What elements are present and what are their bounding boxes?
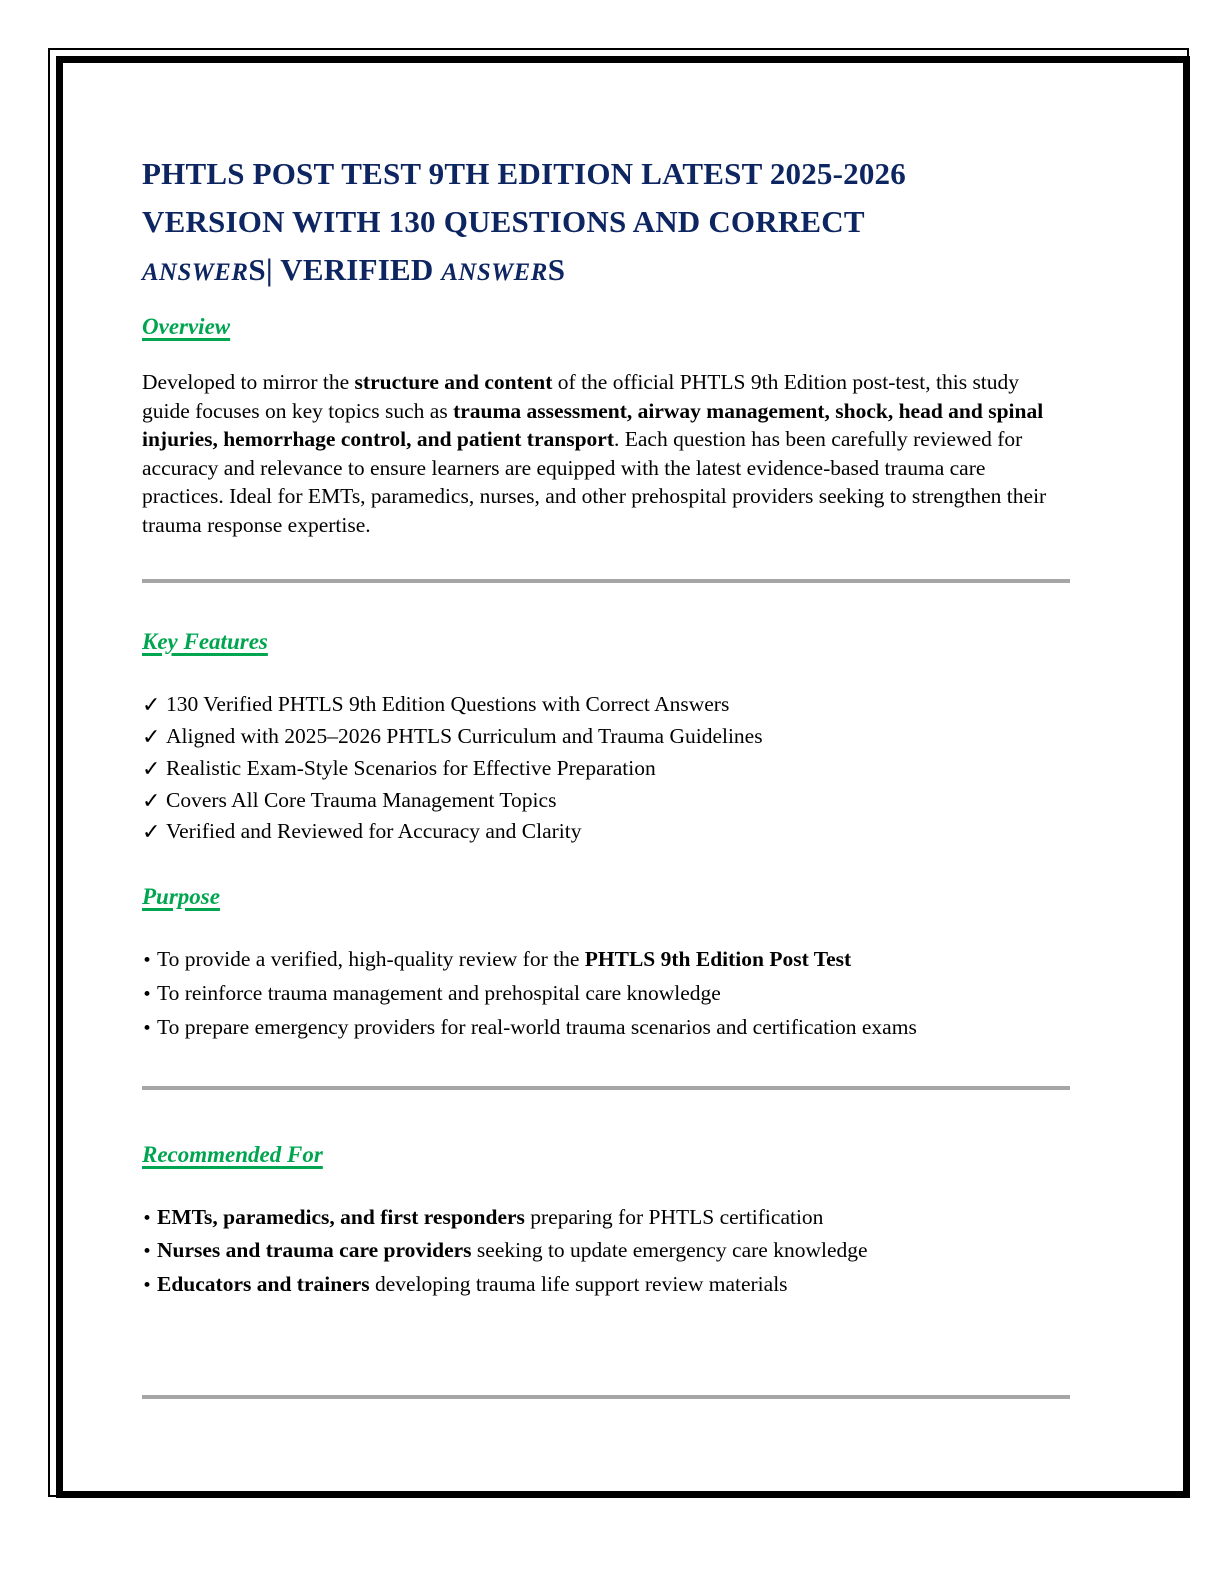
- list-item: ✓130 Verified PHTLS 9th Edition Question…: [142, 689, 1070, 721]
- section-divider-2: [142, 1086, 1070, 1090]
- section-divider-3: [142, 1395, 1070, 1399]
- title-line-3: ANSWERS| VERIFIED ANSWERS: [142, 246, 1070, 294]
- recommended-rest: preparing for PHTLS certification: [525, 1205, 824, 1229]
- recommended-bold-lead: EMTs, paramedics, and first responders: [157, 1205, 525, 1229]
- purpose-bold-tail: PHTLS 9th Edition Post Test: [585, 947, 851, 971]
- document-content: PHTLS POST TEST 9TH EDITION LATEST 2025-…: [142, 150, 1070, 1399]
- title-line-1: PHTLS POST TEST 9TH EDITION LATEST 2025-…: [142, 150, 1070, 198]
- check-outline-icon: ✓: [142, 791, 166, 813]
- purpose-list: •To provide a verified, high-quality rev…: [142, 944, 1070, 1045]
- check-outline-icon: ✓: [142, 695, 166, 717]
- key-features-list: ✓130 Verified PHTLS 9th Edition Question…: [142, 689, 1070, 848]
- list-item: ✓Realistic Exam-Style Scenarios for Effe…: [142, 753, 1070, 785]
- list-item: •To reinforce trauma management and preh…: [142, 978, 1070, 1012]
- check-outline-icon: ✓: [142, 822, 166, 844]
- purpose-text: To prepare emergency providers for real-…: [157, 1015, 917, 1039]
- key-feature-text: 130 Verified PHTLS 9th Edition Questions…: [166, 692, 729, 716]
- title-pipe: |: [266, 252, 273, 287]
- purpose-text: To reinforce trauma management and preho…: [157, 981, 721, 1005]
- section-heading-purpose: Purpose: [142, 884, 220, 910]
- title-answer-s-2: S: [548, 252, 565, 287]
- key-feature-text: Aligned with 2025–2026 PHTLS Curriculum …: [166, 724, 763, 748]
- section-heading-key-features: Key Features: [142, 629, 268, 655]
- overview-bold-structure-content: structure and content: [355, 370, 553, 394]
- title-answer-smallcaps-2: ANSWER: [441, 259, 547, 286]
- title-answer-s-1: S: [248, 252, 265, 287]
- bullet-dot-icon: •: [142, 1014, 157, 1046]
- recommended-bold-lead: Educators and trainers: [157, 1272, 370, 1296]
- key-feature-text: Covers All Core Trauma Management Topics: [166, 788, 556, 812]
- list-item: •To provide a verified, high-quality rev…: [142, 944, 1070, 978]
- section-heading-overview: Overview: [142, 314, 230, 340]
- recommended-for-section: Recommended For: [142, 1142, 1070, 1168]
- list-item: •Nurses and trauma care providers seekin…: [142, 1235, 1070, 1269]
- section-divider-1: [142, 579, 1070, 583]
- key-features-section: Key Features: [142, 629, 1070, 655]
- list-item: •To prepare emergency providers for real…: [142, 1012, 1070, 1046]
- check-outline-icon: ✓: [142, 727, 166, 749]
- title-line-2: VERSION WITH 130 QUESTIONS AND CORRECT: [142, 198, 1070, 246]
- bullet-dot-icon: •: [142, 980, 157, 1012]
- key-feature-text: Realistic Exam-Style Scenarios for Effec…: [166, 756, 656, 780]
- overview-section: Overview: [142, 314, 1070, 340]
- bullet-dot-icon: •: [142, 946, 157, 978]
- list-item: ✓Verified and Reviewed for Accuracy and …: [142, 816, 1070, 848]
- recommended-bold-lead: Nurses and trauma care providers: [157, 1238, 472, 1262]
- overview-text-part1: Developed to mirror the: [142, 370, 355, 394]
- section-heading-recommended-for: Recommended For: [142, 1142, 323, 1168]
- recommended-rest: developing trauma life support review ma…: [370, 1272, 788, 1296]
- page-title: PHTLS POST TEST 9TH EDITION LATEST 2025-…: [142, 150, 1070, 294]
- list-item: ✓Aligned with 2025–2026 PHTLS Curriculum…: [142, 721, 1070, 753]
- title-answer-smallcaps-1: ANSWER: [142, 259, 248, 286]
- bullet-dot-icon: •: [142, 1237, 157, 1269]
- purpose-text: To provide a verified, high-quality revi…: [157, 947, 585, 971]
- check-outline-icon: ✓: [142, 759, 166, 781]
- list-item: •EMTs, paramedics, and first responders …: [142, 1202, 1070, 1236]
- purpose-section: Purpose: [142, 884, 1070, 910]
- list-item: ✓Covers All Core Trauma Management Topic…: [142, 785, 1070, 817]
- title-verified: VERIFIED: [273, 252, 442, 287]
- bullet-dot-icon: •: [142, 1271, 157, 1303]
- bullet-dot-icon: •: [142, 1204, 157, 1236]
- list-item: •Educators and trainers developing traum…: [142, 1269, 1070, 1303]
- recommended-rest: seeking to update emergency care knowled…: [472, 1238, 868, 1262]
- key-feature-text: Verified and Reviewed for Accuracy and C…: [166, 819, 582, 843]
- recommended-for-list: •EMTs, paramedics, and first responders …: [142, 1202, 1070, 1303]
- overview-paragraph: Developed to mirror the structure and co…: [142, 368, 1070, 539]
